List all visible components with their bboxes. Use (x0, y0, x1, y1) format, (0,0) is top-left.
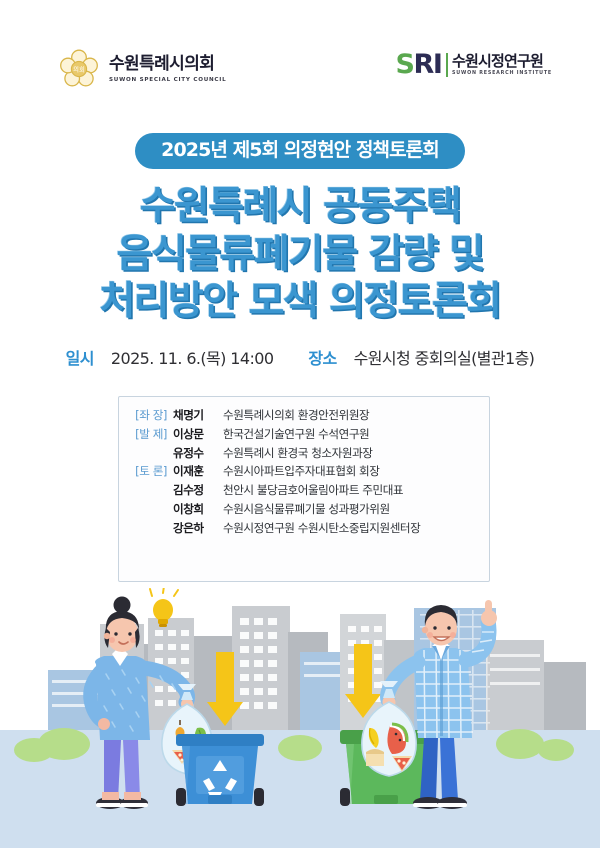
sri-logo: S RI 수원시정연구원 SUWON RESEARCH INSTITUTE (395, 51, 552, 78)
speaker-affiliation: 천안시 불당금호어울림아파트 주민대표 (223, 485, 403, 497)
speaker-affiliation: 수원특례시 환경국 청소자원과장 (223, 448, 373, 460)
council-logo-korean: 수원특례시의회 (109, 55, 226, 75)
event-series-badge: 2025년 제5회 의정현안 정책토론회 (135, 133, 465, 169)
event-badge-wrapper: 2025년 제5회 의정현안 정책토론회 (0, 133, 600, 169)
speaker-affiliation: 한국건설기술연구원 수석연구원 (223, 429, 369, 441)
speaker-name: 유정수 (173, 448, 223, 460)
speaker-row: 이창희수원시음식물류폐기물 성과평가위원 (119, 504, 489, 516)
page-title: 수원특례시 공동주택 음식물류폐기물 감량 및 처리방안 모색 의정토론회 (0, 183, 600, 326)
date-label: 일시 (66, 349, 94, 368)
council-logo-english: SUWON SPECIAL CITY COUNCIL (109, 77, 226, 83)
bushes (14, 728, 574, 762)
title-line-1: 수원특례시 공동주택 (0, 183, 600, 231)
speaker-row: 유정수수원특례시 환경국 청소자원과장 (119, 448, 489, 460)
sri-divider-bar (446, 53, 449, 77)
speaker-row: [좌 장]채명기수원특례시의회 환경안전위원장 (119, 410, 489, 422)
illustration (0, 588, 600, 848)
sri-logo-english: SUWON RESEARCH INSTITUTE (452, 71, 552, 76)
suwon-city-council-logo: 의회 수원특례시의회 SUWON SPECIAL CITY COUNCIL (58, 48, 226, 90)
blue-recycling-bin (176, 734, 264, 806)
speaker-name: 이상문 (173, 429, 223, 441)
speaker-panel: [좌 장]채명기수원특례시의회 환경안전위원장[발 제]이상문한국건설기술연구원… (118, 396, 490, 582)
header-logos: 의회 수원특례시의회 SUWON SPECIAL CITY COUNCIL S … (0, 48, 600, 96)
speaker-name: 채명기 (173, 410, 223, 422)
speaker-affiliation: 수원특례시의회 환경안전위원장 (223, 410, 369, 422)
sri-letter-s: S (395, 51, 413, 78)
speaker-name: 이재훈 (173, 466, 223, 478)
sri-letters-ri: RI (414, 51, 442, 78)
speaker-name: 강은하 (173, 523, 223, 535)
speaker-row: 김수정천안시 불당금호어울림아파트 주민대표 (119, 485, 489, 497)
date-value: 2025. 11. 6.(목) 14:00 (111, 349, 274, 368)
sri-wordmark: S RI (395, 51, 441, 78)
speaker-role-tag: [좌 장] (119, 410, 173, 422)
speaker-row: 강은하수원시정연구원 수원시탄소중립지원센터장 (119, 523, 489, 535)
speaker-role-tag: [토 론] (119, 466, 173, 478)
poster-root: 의회 수원특례시의회 SUWON SPECIAL CITY COUNCIL S … (0, 0, 600, 848)
speaker-list: [좌 장]채명기수원특례시의회 환경안전위원장[발 제]이상문한국건설기술연구원… (119, 397, 489, 534)
sri-logo-korean: 수원시정연구원 (452, 53, 552, 70)
event-meta: 일시 2025. 11. 6.(목) 14:00 장소 수원시청 중회의실(별관… (0, 349, 600, 368)
speaker-row: [발 제]이상문한국건설기술연구원 수석연구원 (119, 429, 489, 441)
speaker-affiliation: 수원시정연구원 수원시탄소중립지원센터장 (223, 523, 420, 535)
title-line-2: 음식물류폐기물 감량 및 (0, 231, 600, 279)
speaker-row: [토 론]이재훈수원시아파트입주자대표협회 회장 (119, 466, 489, 478)
speaker-name: 김수정 (173, 485, 223, 497)
place-label: 장소 (308, 349, 336, 368)
speaker-role-tag: [발 제] (119, 429, 173, 441)
speaker-name: 이창희 (173, 504, 223, 516)
speaker-affiliation: 수원시음식물류폐기물 성과평가위원 (223, 504, 390, 516)
speaker-affiliation: 수원시아파트입주자대표협회 회장 (223, 466, 379, 478)
title-line-3: 처리방안 모색 의정토론회 (0, 278, 600, 326)
suwon-flower-emblem-icon: 의회 (58, 48, 100, 90)
place-value: 수원시청 중회의실(별관1층) (354, 349, 535, 368)
svg-text:의회: 의회 (73, 64, 85, 73)
